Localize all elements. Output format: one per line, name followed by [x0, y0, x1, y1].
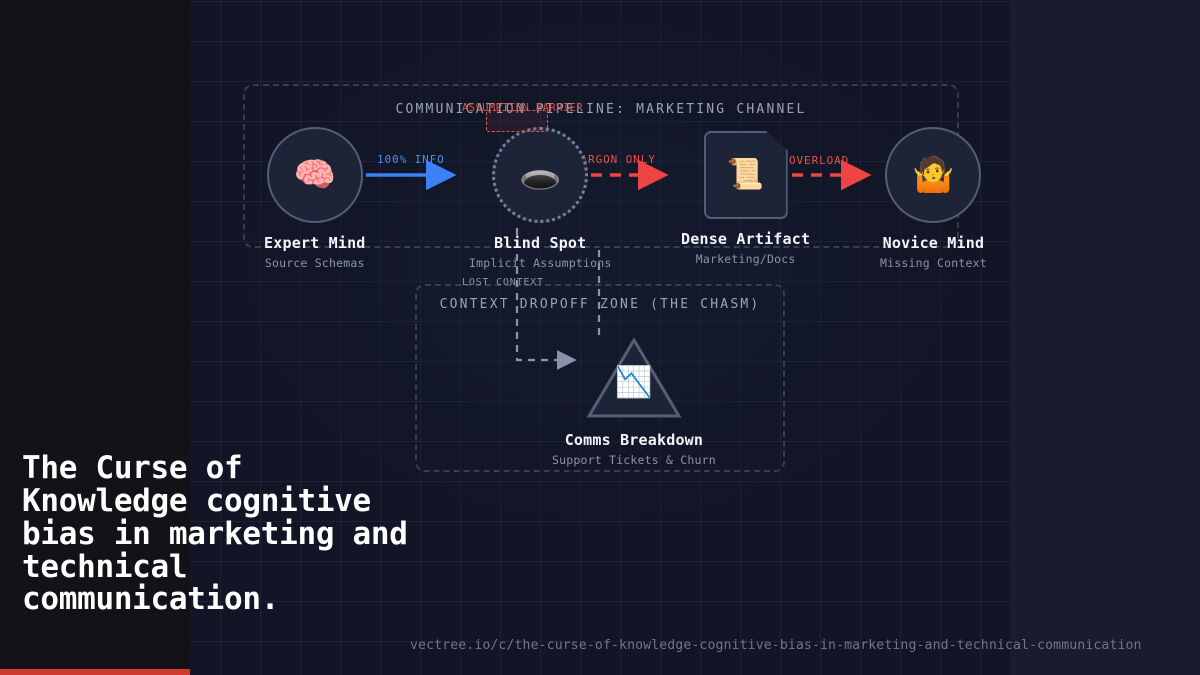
- node-shape-document: 📜: [704, 131, 788, 219]
- node-sublabel: Support Tickets & Churn: [552, 453, 716, 467]
- node-shape-dotted-circle: 🕳️: [492, 127, 588, 223]
- shrug-emoji: 🤷: [912, 158, 954, 192]
- assumption-barrier-label: ASSUMPTION BARRIER: [462, 102, 583, 114]
- node-comms-breakdown[interactable]: 📉 Comms Breakdown Support Tickets & Chur…: [552, 336, 716, 467]
- page-title: The Curse of Knowledge cognitive bias in…: [22, 452, 412, 616]
- node-label: Comms Breakdown: [565, 431, 703, 449]
- node-novice-mind[interactable]: 🤷 Novice Mind Missing Context: [880, 127, 987, 270]
- accent-bar: [0, 669, 190, 675]
- footer-url: vectree.io/c/the-curse-of-knowledge-cogn…: [410, 638, 1142, 653]
- node-shape-circle: 🤷: [885, 127, 981, 223]
- slide-canvas: COMMUNICATION PIPELINE: MARKETING CHANNE…: [0, 0, 1200, 675]
- node-sublabel: Implicit Assumptions: [469, 256, 611, 270]
- node-label: Blind Spot: [494, 234, 586, 252]
- node-dense-artifact[interactable]: 📜 Dense Artifact Marketing/Docs: [681, 131, 810, 266]
- node-label: Novice Mind: [883, 234, 985, 252]
- scroll-emoji: 📜: [727, 160, 764, 190]
- node-sublabel: Missing Context: [880, 256, 987, 270]
- node-expert-mind[interactable]: 🧠 Expert Mind Source Schemas: [264, 127, 366, 270]
- node-label: Expert Mind: [264, 234, 366, 252]
- node-blind-spot[interactable]: 🕳️ Blind Spot Implicit Assumptions: [469, 127, 611, 270]
- chart-decreasing-emoji: 📉: [615, 368, 652, 398]
- node-label: Dense Artifact: [681, 230, 810, 248]
- brain-emoji: 🧠: [294, 158, 336, 192]
- node-sublabel: Source Schemas: [265, 256, 365, 270]
- hole-emoji: 🕳️: [519, 158, 561, 192]
- node-shape-circle: 🧠: [267, 127, 363, 223]
- node-shape-triangle: 📉: [586, 336, 682, 420]
- node-sublabel: Marketing/Docs: [696, 252, 796, 266]
